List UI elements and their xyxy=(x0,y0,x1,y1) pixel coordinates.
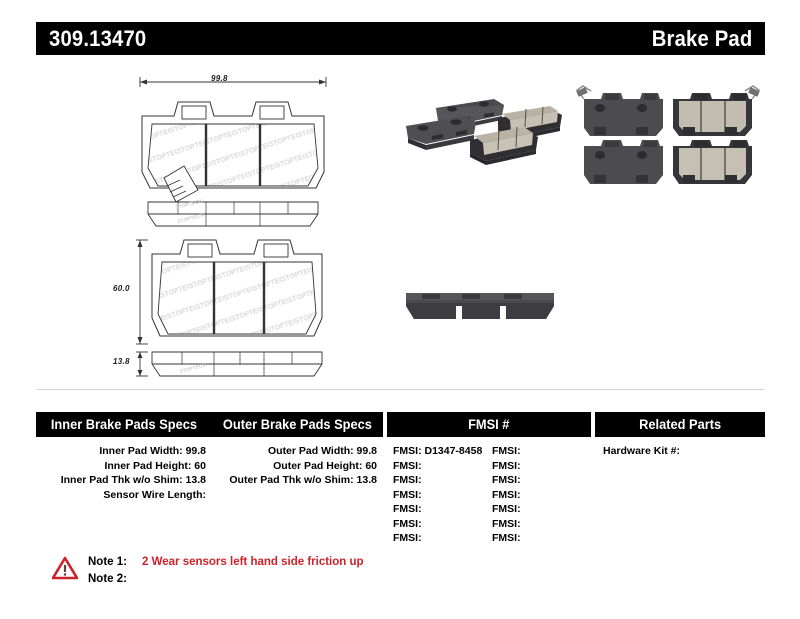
fmsi-line: FMSI: xyxy=(393,473,492,488)
note-1-row: Note 1: 2 Wear sensors left hand side fr… xyxy=(88,554,364,571)
column-header-inner-specs: Inner Brake Pads Specs xyxy=(36,412,212,437)
edge-view-pad-photo xyxy=(400,273,560,333)
fmsi-line: FMSI: xyxy=(492,473,591,488)
column-header-fmsi: FMSI # xyxy=(387,412,591,437)
fmsi-line: FMSI: xyxy=(492,517,591,532)
note-2-label: Note 2: xyxy=(88,571,136,588)
fmsi-line: FMSI: xyxy=(393,517,492,532)
inner-spec-line: Inner Pad Width: 99.8 xyxy=(36,444,206,459)
specs-table-header-row: Inner Brake Pads Specs Outer Brake Pads … xyxy=(36,412,765,437)
notes-lines: Note 1: 2 Wear sensors left hand side fr… xyxy=(88,553,364,588)
fmsi-line: FMSI: xyxy=(492,444,591,459)
fmsi-line: FMSI: xyxy=(492,502,591,517)
technical-drawings: STOPTECH STOPTECH xyxy=(118,68,348,388)
inner-spec-line: Sensor Wire Length: xyxy=(36,488,206,503)
note-2-text xyxy=(136,571,142,588)
dimension-label-thickness: 13.8 xyxy=(113,357,130,366)
brake-pad-line-drawings: STOPTECH STOPTECH xyxy=(118,68,348,388)
inner-specs-cell: Inner Pad Width: 99.8 Inner Pad Height: … xyxy=(36,444,212,546)
note-1-label: Note 1: xyxy=(88,554,136,571)
hardware-kit-line: Hardware Kit #: xyxy=(603,444,765,459)
related-parts-cell: Hardware Kit #: xyxy=(595,444,765,546)
fmsi-line: FMSI: xyxy=(393,488,492,503)
fmsi-line: FMSI: xyxy=(492,488,591,503)
outer-specs-cell: Outer Pad Width: 99.8 Outer Pad Height: … xyxy=(212,444,383,546)
fmsi-line: FMSI: xyxy=(393,502,492,517)
warning-triangle-icon xyxy=(52,556,78,580)
note-2-row: Note 2: xyxy=(88,571,364,588)
fmsi-column-left: FMSI: D1347-8458 FMSI: FMSI: FMSI: FMSI:… xyxy=(393,444,492,546)
fmsi-line: FMSI: xyxy=(492,531,591,546)
fmsi-line: FMSI: xyxy=(393,531,492,546)
outer-spec-line: Outer Pad Height: 60 xyxy=(212,459,377,474)
fmsi-line: FMSI: xyxy=(393,459,492,474)
fmsi-column-right: FMSI: FMSI: FMSI: FMSI: FMSI: FMSI: FMSI… xyxy=(492,444,591,546)
angled-pad-set-photo xyxy=(398,82,573,182)
fmsi-line: FMSI: xyxy=(492,459,591,474)
top-down-pad-set-photo xyxy=(570,80,765,195)
inner-spec-line: Inner Pad Thk w/o Shim: 13.8 xyxy=(36,473,206,488)
column-header-related-parts: Related Parts xyxy=(595,412,765,437)
outer-spec-line: Outer Pad Thk w/o Shim: 13.8 xyxy=(212,473,377,488)
notes-area: Note 1: 2 Wear sensors left hand side fr… xyxy=(52,553,364,588)
title-bar: 309.13470 Brake Pad xyxy=(36,22,765,55)
specs-table-body-row: Inner Pad Width: 99.8 Inner Pad Height: … xyxy=(36,444,765,546)
inner-spec-line: Inner Pad Height: 60 xyxy=(36,459,206,474)
note-1-text: 2 Wear sensors left hand side friction u… xyxy=(136,554,364,571)
outer-spec-line: Outer Pad Width: 99.8 xyxy=(212,444,377,459)
section-divider xyxy=(36,389,765,390)
product-type-label: Brake Pad xyxy=(651,26,752,52)
column-header-outer-specs: Outer Brake Pads Specs xyxy=(212,412,383,437)
dimension-label-height: 60.0 xyxy=(113,284,130,293)
figure-area: STOPTECH STOPTECH xyxy=(0,60,800,388)
dimension-label-width: 99.8 xyxy=(211,74,228,83)
fmsi-cell: FMSI: D1347-8458 FMSI: FMSI: FMSI: FMSI:… xyxy=(387,444,591,546)
fmsi-line: FMSI: D1347-8458 xyxy=(393,444,492,459)
part-number: 309.13470 xyxy=(49,26,146,52)
specs-table: Inner Brake Pads Specs Outer Brake Pads … xyxy=(36,412,765,546)
